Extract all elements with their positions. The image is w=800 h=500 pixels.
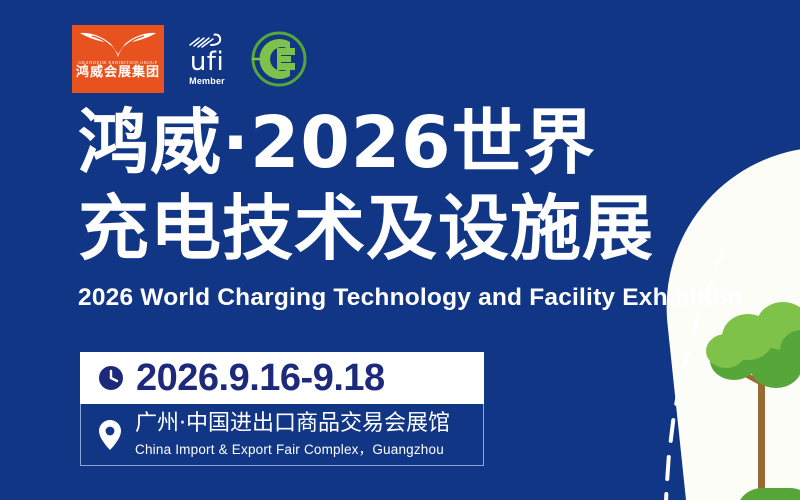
event-date-box: 2026.9.16-9.18: [80, 352, 484, 404]
tree-illustration: [706, 300, 800, 500]
clock-icon: [98, 365, 124, 391]
headline-chinese-line-1: 鸿威·2026世界: [78, 100, 718, 186]
location-pin-icon: [99, 420, 121, 450]
event-venue-chinese: 广州·中国进出口商品交易会展馆: [135, 411, 450, 436]
ufi-member-logo: ufi Member: [178, 26, 236, 92]
event-venue-box: 广州·中国进出口商品交易会展馆 China Import & Export Fa…: [80, 404, 484, 466]
headline-chinese-line-2: 充电技术及设施展: [78, 186, 718, 272]
ufi-wordmark: ufi: [190, 50, 224, 75]
tree-foliage: [706, 334, 746, 368]
headline-english: 2026 World Charging Technology and Facil…: [78, 284, 718, 312]
event-venue-english: China Import & Export Fair Complex，Guang…: [135, 438, 450, 458]
event-info-block: 2026.9.16-9.18 广州·中国进出口商品交易会展馆 China Imp…: [80, 352, 484, 466]
ce-plug-circle-icon: [250, 30, 308, 88]
ufi-member-label: Member: [189, 76, 225, 86]
headline-block: 鸿威·2026世界 充电技术及设施展 2026 World Charging T…: [78, 100, 718, 312]
grandeur-exhibition-group-logo: GRANDEUR EXHIBITION GROUP 鸿威会展集团: [72, 25, 164, 93]
grass-mound: [736, 488, 800, 500]
logo-row: GRANDEUR EXHIBITION GROUP 鸿威会展集团 ufi Mem…: [72, 24, 308, 94]
grandeur-logo-chinese: 鸿威会展集团: [76, 66, 160, 79]
event-date-text: 2026.9.16-9.18: [136, 359, 385, 397]
exhibition-banner: GRANDEUR EXHIBITION GROUP 鸿威会展集团 ufi Mem…: [0, 0, 800, 500]
event-venue-text: 广州·中国进出口商品交易会展馆 China Import & Export Fa…: [135, 411, 450, 458]
eagle-wings-w-icon: [78, 27, 158, 59]
